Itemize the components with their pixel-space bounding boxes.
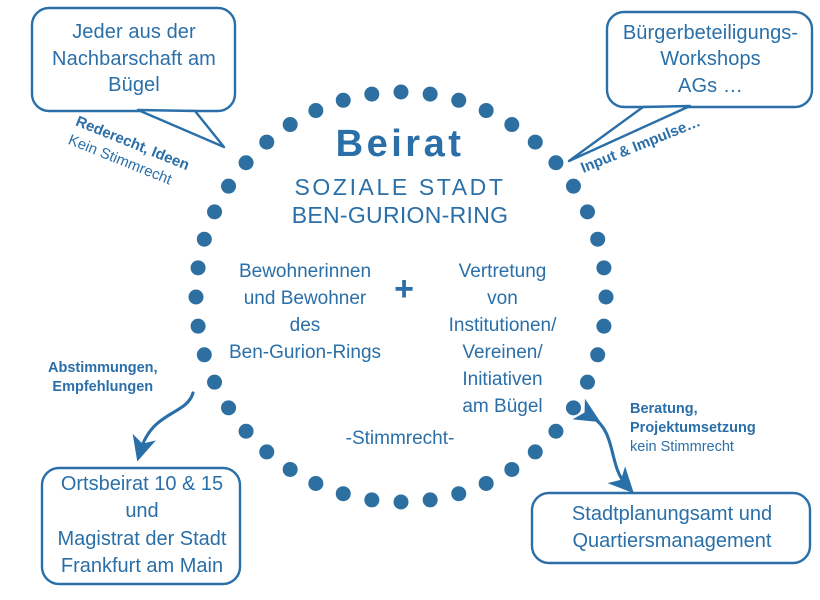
center-left-line-2: und Bewohner (215, 286, 395, 313)
ring-dot (191, 319, 206, 334)
ring-dot (599, 290, 614, 305)
diagram-canvas: Jeder aus der Nachbarschaft am Bügel Bür… (0, 0, 820, 600)
connector-label-bottom-left-line-1: Abstimmungen, (48, 359, 158, 378)
box-bottom-left-text: Ortsbeirat 10 & 15 und Magistrat der Sta… (44, 468, 240, 583)
center-footer-stimmrecht: -Stimmrecht- (300, 428, 500, 450)
ring-dot (548, 424, 563, 439)
ring-dot (336, 486, 351, 501)
bubble-tr-line-3: AGs … (678, 73, 743, 100)
connector-label-bottom-right-line-2: Projektumsetzung (630, 419, 756, 438)
center-right-line-2: von (420, 286, 585, 313)
ring-dot (596, 319, 611, 334)
ring-dot (423, 87, 438, 102)
center-left-column: Bewohnerinnen und Bewohner des Ben-Gurio… (215, 259, 395, 367)
center-left-line-3: des (215, 313, 395, 340)
center-left-line-4: Ben-Gurion-Rings (215, 340, 395, 367)
ring-dot (596, 260, 611, 275)
ring-dot (207, 375, 222, 390)
arrow-bottom-left (140, 393, 193, 452)
center-right-line-4: Vereinen/ (420, 340, 585, 367)
bubble-tr-line-2: Workshops (660, 46, 761, 73)
connector-label-bottom-right-line-3: kein Stimmrecht (630, 438, 756, 457)
speech-bubble-top-left-text: Jeder aus der Nachbarschaft am Bügel (34, 8, 234, 110)
ring-dot (221, 400, 236, 415)
speech-bubble-top-right-text: Bürgerbeteiligungs- Workshops AGs … (609, 12, 812, 107)
ring-dot (423, 492, 438, 507)
box-bl-line-3: Magistrat der Stadt (58, 526, 227, 553)
ring-dot (364, 87, 379, 102)
ring-dot (590, 347, 605, 362)
box-br-line-2: Quartiersmanagement (573, 528, 772, 555)
ring-dot (283, 462, 298, 477)
ring-dot (451, 93, 466, 108)
ring-dot (191, 260, 206, 275)
ring-dot (239, 424, 254, 439)
connector-label-bottom-left-line-2: Empfehlungen (48, 378, 158, 397)
ring-dot (528, 444, 543, 459)
ring-dot (189, 290, 204, 305)
bubble-tl-line-3: Bügel (108, 72, 160, 99)
ring-dot (451, 486, 466, 501)
ring-dot (479, 103, 494, 118)
ring-dot (479, 476, 494, 491)
bubble-tl-line-2: Nachbarschaft am (52, 46, 216, 73)
connector-label-bottom-right: Beratung, Projektumsetzung kein Stimmrec… (630, 400, 756, 457)
bubble-tl-line-1: Jeder aus der (72, 19, 196, 46)
ring-dot (504, 462, 519, 477)
connector-label-bottom-right-line-1: Beratung, (630, 400, 756, 419)
ring-dot (394, 85, 409, 100)
bubble-tr-line-1: Bürgerbeteiligungs- (623, 20, 798, 47)
center-left-line-1: Bewohnerinnen (215, 259, 395, 286)
ring-dot (590, 232, 605, 247)
ring-dot (364, 492, 379, 507)
ring-dot (336, 93, 351, 108)
arrow-bottom-right (592, 417, 627, 486)
box-br-line-1: Stadtplanungsamt und (572, 501, 772, 528)
center-subtitle-1: SOZIALE STADT (200, 175, 600, 200)
center-right-line-3: Institutionen/ (420, 313, 585, 340)
center-subtitle-2: BEN-GURION-RING (200, 203, 600, 228)
center-right-line-5: Initiativen (420, 367, 585, 394)
center-right-line-1: Vertretung (420, 259, 585, 286)
center-right-column: Vertretung von Institutionen/ Vereinen/ … (420, 259, 585, 421)
ring-dot (394, 495, 409, 510)
center-right-line-6: am Bügel (420, 394, 585, 421)
ring-dot (197, 232, 212, 247)
ring-dot (308, 476, 323, 491)
plus-icon: + (386, 272, 422, 306)
box-bl-line-2: und (125, 498, 158, 525)
center-title: Beirat (200, 125, 600, 163)
box-bl-line-1: Ortsbeirat 10 & 15 (61, 471, 223, 498)
ring-dot (259, 444, 274, 459)
ring-dot (197, 347, 212, 362)
connector-label-bottom-left: Abstimmungen, Empfehlungen (48, 359, 158, 397)
ring-dot (308, 103, 323, 118)
box-bl-line-4: Frankfurt am Main (61, 553, 223, 580)
box-bottom-right-text: Stadtplanungsamt und Quartiersmanagement (534, 493, 810, 563)
